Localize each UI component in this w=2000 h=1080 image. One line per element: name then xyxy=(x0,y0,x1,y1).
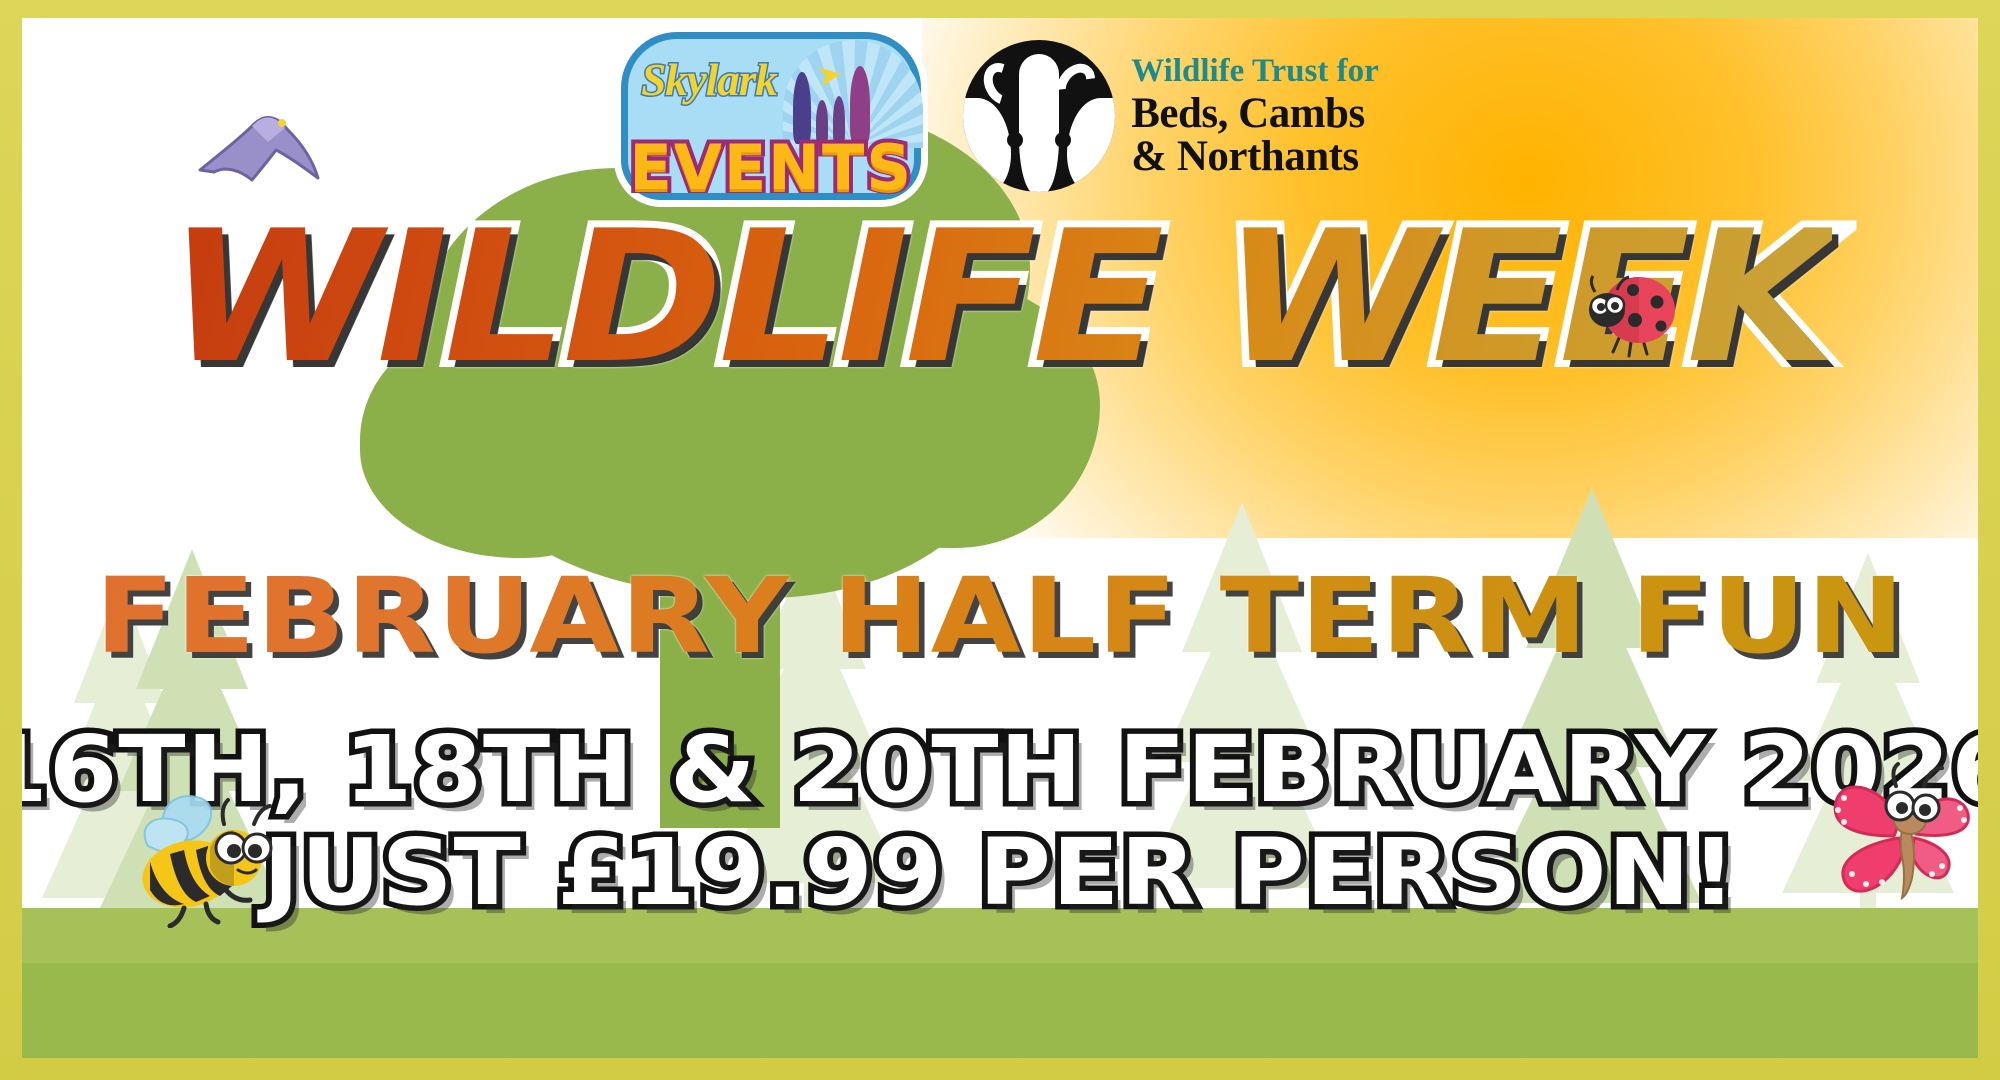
trust-line-2: Beds, Cambs xyxy=(1131,92,1379,135)
butterfly-icon xyxy=(1822,758,1978,908)
flying-bird-icon xyxy=(192,96,322,196)
promo-banner: Skylark ➤ EVENTS Wildlife Trust for Be xyxy=(0,0,2000,1080)
skylark-events-logo[interactable]: Skylark ➤ EVENTS xyxy=(621,32,921,200)
events-wordmark: EVENTS xyxy=(621,131,921,204)
skylark-wordmark: Skylark xyxy=(641,54,777,106)
bumblebee-icon xyxy=(114,778,274,928)
badger-head-icon xyxy=(963,40,1115,192)
event-details: 16TH, 18TH & 20TH FEBRUARY 2026 JUST £19… xyxy=(22,718,1978,924)
ladybird-icon xyxy=(1577,266,1687,358)
grass-ground-front xyxy=(22,963,1978,1058)
wildlife-trust-text: Wildlife Trust for Beds, Cambs & Northan… xyxy=(1131,55,1379,178)
trust-line-3: & Northants xyxy=(1131,135,1379,178)
subtitle-block: FEBRUARY HALF TERM FUN xyxy=(22,564,1978,668)
subtitle: FEBRUARY HALF TERM FUN xyxy=(95,564,1905,668)
wildlife-trust-logo[interactable]: Wildlife Trust for Beds, Cambs & Northan… xyxy=(963,32,1379,200)
trust-line-1: Wildlife Trust for xyxy=(1131,55,1379,88)
event-dates: 16TH, 18TH & 20TH FEBRUARY 2026 xyxy=(22,718,1978,821)
skylark-bird-icon: ➤ xyxy=(815,56,845,94)
banner-inner-canvas: Skylark ➤ EVENTS Wildlife Trust for Be xyxy=(22,18,1978,1058)
event-price: JUST £19.99 PER PERSON! xyxy=(22,821,1978,924)
